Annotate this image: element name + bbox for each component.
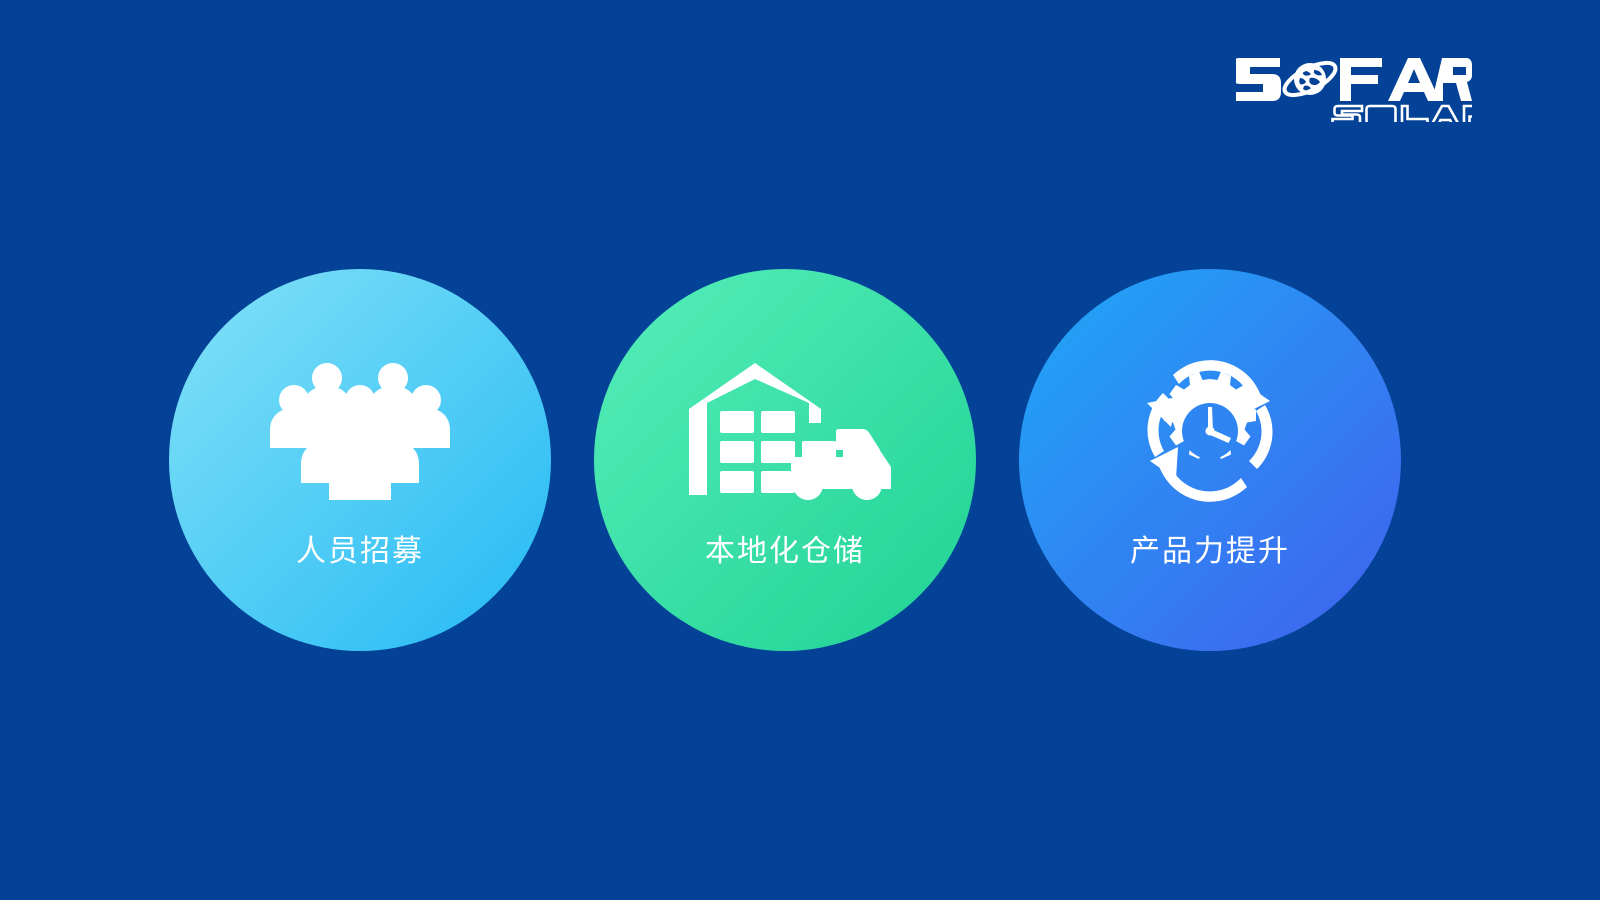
people-group-icon bbox=[260, 357, 460, 505]
globe-orbit-icon bbox=[1280, 56, 1340, 101]
sofar-wordmark-icon bbox=[1236, 58, 1472, 101]
feature-label-recruitment: 人员招募 bbox=[296, 537, 424, 567]
feature-circle-local-warehousing[interactable]: 本地化仓储 bbox=[594, 269, 976, 651]
solar-subwordmark-icon bbox=[1333, 106, 1473, 122]
feature-label-product-capability: 产品力提升 bbox=[1130, 537, 1290, 567]
warehouse-truck-icon bbox=[685, 357, 885, 505]
solar-r-icon bbox=[1464, 106, 1472, 122]
feature-circle-product-capability[interactable]: 产品力提升 bbox=[1019, 269, 1401, 651]
feature-circle-recruitment[interactable]: 人员招募 bbox=[169, 269, 551, 651]
gear-clock-cycle-icon bbox=[1110, 357, 1310, 505]
feature-circle-row: 人员招募 bbox=[169, 269, 1401, 651]
brand-logo bbox=[1236, 48, 1472, 122]
feature-label-local-warehousing: 本地化仓储 bbox=[705, 537, 865, 567]
